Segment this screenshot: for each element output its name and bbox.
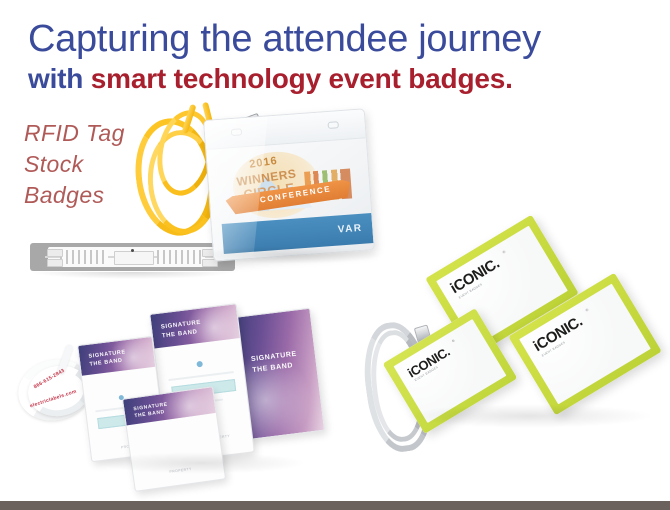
badge-header-line-2: THE BAND bbox=[89, 358, 123, 368]
iconic-trademark: ® bbox=[585, 308, 589, 313]
badge-pad-header: SIGNATURE THE BAND bbox=[78, 337, 155, 376]
rfid-pad-left-bottom bbox=[47, 259, 63, 267]
headline-block: Capturing the attendee journey with smar… bbox=[28, 18, 656, 96]
rfid-caption: RFID Tag Stock Badges bbox=[24, 118, 125, 211]
badge-header-line-2: THE BAND bbox=[162, 329, 198, 339]
footer-bar bbox=[0, 501, 670, 510]
headline-secondary: with smart technology event badges. bbox=[28, 62, 656, 96]
badge-icon-mark bbox=[196, 361, 203, 368]
headline-secondary-prefix: with bbox=[28, 63, 91, 94]
badge-header-line-1: SIGNATURE bbox=[251, 351, 298, 364]
vinyl-badge-holder: 2016 WINNERS CIRCLE CONFERENCE VAR bbox=[203, 108, 375, 261]
rfid-caption-line-2: Stock bbox=[24, 149, 125, 180]
rfid-caption-line-1: RFID Tag bbox=[24, 118, 125, 149]
badge-pad-bottom: SIGNATURE THE BAND PROPERTY bbox=[122, 386, 226, 492]
rfid-caption-line-3: Badges bbox=[24, 180, 125, 211]
headline-primary: Capturing the attendee journey bbox=[28, 18, 656, 60]
promo-banner: Capturing the attendee journey with smar… bbox=[0, 0, 670, 510]
badge-header-line-2: THE BAND bbox=[252, 362, 294, 374]
iconic-trademark: ® bbox=[451, 339, 455, 344]
badge-pad-header: SIGNATURE THE BAND bbox=[150, 304, 240, 348]
rfid-inlay-shadow bbox=[32, 272, 232, 279]
badge-category-label: VAR bbox=[337, 223, 362, 236]
badge-slot-hole-right bbox=[327, 121, 338, 129]
rfid-pad-left-top bbox=[47, 249, 63, 257]
badge-footer-mark: PROPERTY bbox=[169, 467, 192, 474]
headline-secondary-accent: smart technology event badges. bbox=[91, 63, 513, 94]
iconic-trademark: ® bbox=[502, 250, 506, 255]
rfid-antenna-coil-left bbox=[60, 250, 108, 264]
